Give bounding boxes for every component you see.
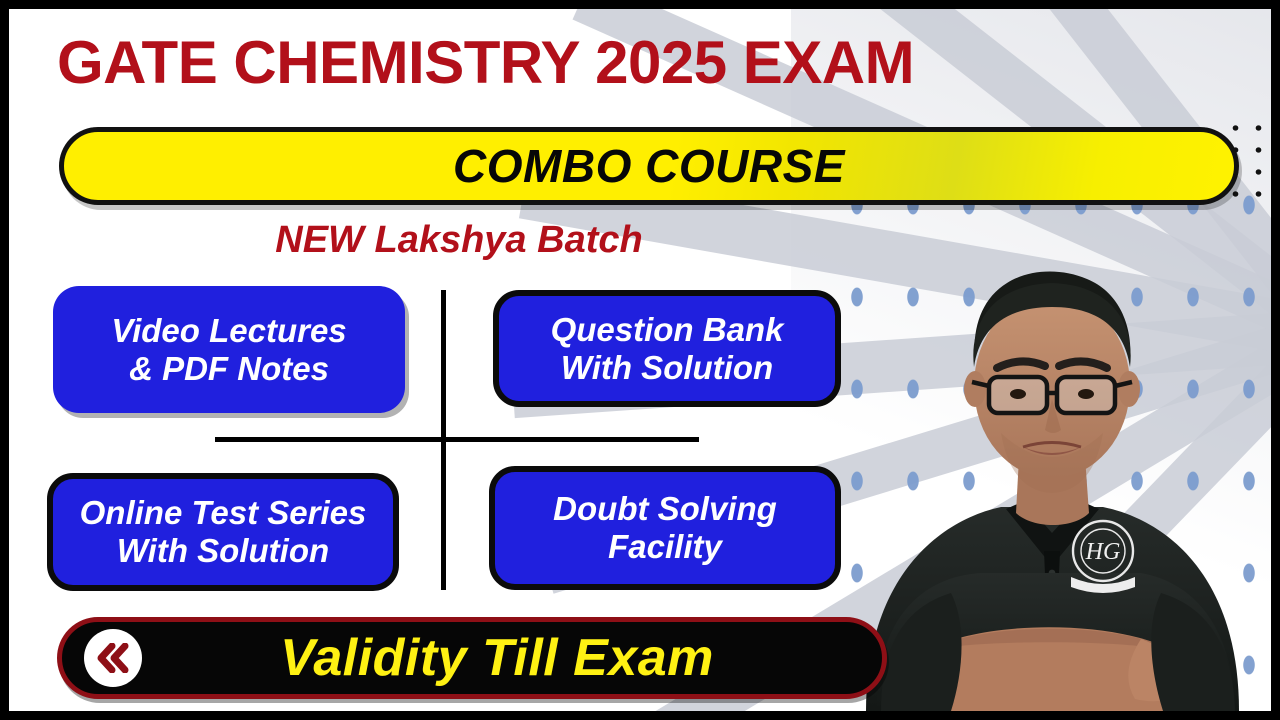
svg-text:HG: HG xyxy=(1085,539,1121,565)
feature-chip-line1: Online Test Series xyxy=(80,494,367,532)
feature-chip-video-lectures: Video Lectures & PDF Notes xyxy=(53,286,405,413)
feature-chip-line1: Video Lectures xyxy=(111,312,346,350)
subheading: NEW Lakshya Batch xyxy=(9,219,909,262)
double-chevron-left-icon xyxy=(84,629,142,687)
feature-chip-question-bank: Question Bank With Solution xyxy=(493,290,841,407)
feature-chip-line2: & PDF Notes xyxy=(111,350,346,388)
feature-chip-line2: With Solution xyxy=(551,349,784,387)
feature-chip-line1: Question Bank xyxy=(551,311,784,349)
thumbnail-canvas: HG GATE CHEMISTRY 2025 EXAM COMBO COURSE… xyxy=(0,0,1280,720)
feature-chip-line1: Doubt Solving xyxy=(553,490,777,528)
feature-chip-line2: Facility xyxy=(553,528,777,566)
feature-chip-doubt-solving: Doubt Solving Facility xyxy=(489,466,841,590)
combo-course-banner: COMBO COURSE xyxy=(59,127,1239,205)
combo-course-label: COMBO COURSE xyxy=(453,139,845,193)
validity-label: Validity Till Exam xyxy=(142,628,882,688)
page-title: GATE CHEMISTRY 2025 EXAM xyxy=(57,33,1242,93)
feature-chip-line2: With Solution xyxy=(80,532,367,570)
divider-horizontal xyxy=(215,437,699,442)
validity-banner: Validity Till Exam xyxy=(57,617,887,699)
presenter-photo: HG xyxy=(841,221,1261,711)
feature-chip-online-test-series: Online Test Series With Solution xyxy=(47,473,399,591)
